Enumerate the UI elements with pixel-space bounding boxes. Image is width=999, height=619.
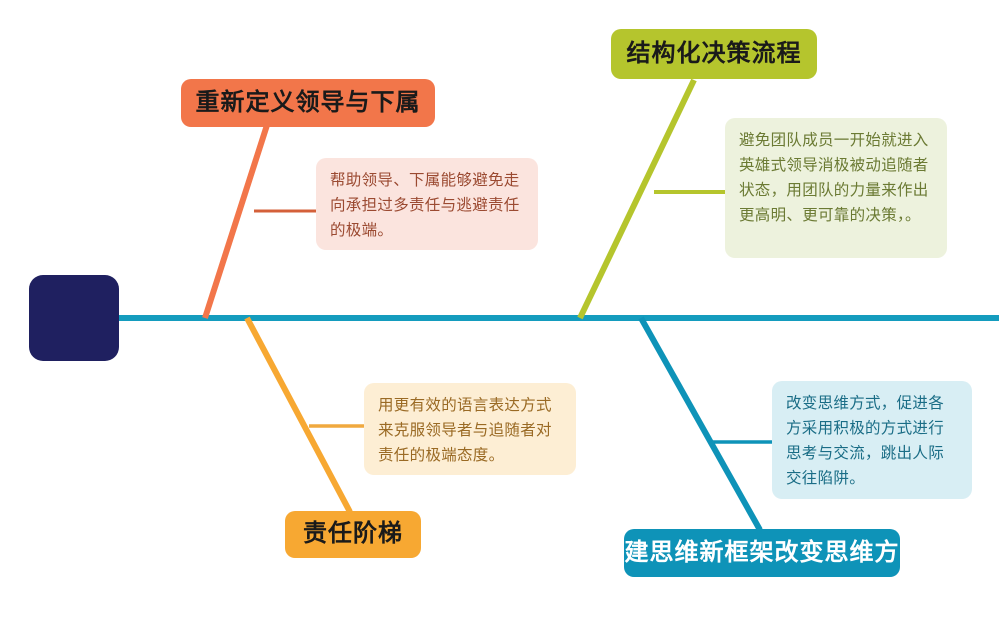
branch-line-responsibility-ladder [247,318,350,512]
note-box-redefine-leader-subordinate[interactable]: 帮助领导、下属能够避免走向承担过多责任与逃避责任的极端。 [316,158,538,250]
category-box-new-thinking-framework[interactable]: 构建思维新框架改变思维方式 [624,529,900,577]
note-text-structured-decision-process: 避免团队成员一开始就进入英雄式领导消极被动追随者状态，用团队的力量来作出更高明、… [739,132,929,224]
note-text-redefine-leader-subordinate: 帮助领导、下属能够避免走向承担过多责任与逃避责任的极端。 [330,172,520,239]
category-box-redefine-leader-subordinate[interactable]: 重新定义领导与下属 [181,79,435,127]
category-label-new-thinking-framework: 构建思维新框架改变思维方式 [600,539,925,568]
note-text-new-thinking-framework: 改变思维方式，促进各方采用积极的方式进行思考与交流，跳出人际交往陷阱。 [786,395,944,487]
fishbone-head-box[interactable] [29,275,119,361]
category-label-responsibility-ladder: 责任阶梯 [303,520,403,549]
note-text-responsibility-ladder: 用更有效的语言表达方式来克服领导者与追随者对责任的极端态度。 [378,397,552,464]
note-box-structured-decision-process[interactable]: 避免团队成员一开始就进入英雄式领导消极被动追随者状态，用团队的力量来作出更高明、… [725,118,947,258]
fishbone-skeleton [0,0,999,619]
category-label-redefine-leader-subordinate: 重新定义领导与下属 [196,89,421,118]
note-box-responsibility-ladder[interactable]: 用更有效的语言表达方式来克服领导者与追随者对责任的极端态度。 [364,383,576,475]
branch-line-structured-decision-process [580,80,694,318]
category-box-structured-decision-process[interactable]: 结构化决策流程 [611,29,817,79]
category-box-responsibility-ladder[interactable]: 责任阶梯 [285,511,421,558]
branch-line-new-thinking-framework [641,318,760,530]
category-label-structured-decision-process: 结构化决策流程 [627,40,802,69]
fishbone-diagram-canvas: 重新定义领导与下属 结构化决策流程 责任阶梯 构建思维新框架改变思维方式 帮助领… [0,0,999,619]
branch-line-redefine-leader-subordinate [205,122,268,318]
note-box-new-thinking-framework[interactable]: 改变思维方式，促进各方采用积极的方式进行思考与交流，跳出人际交往陷阱。 [772,381,972,499]
